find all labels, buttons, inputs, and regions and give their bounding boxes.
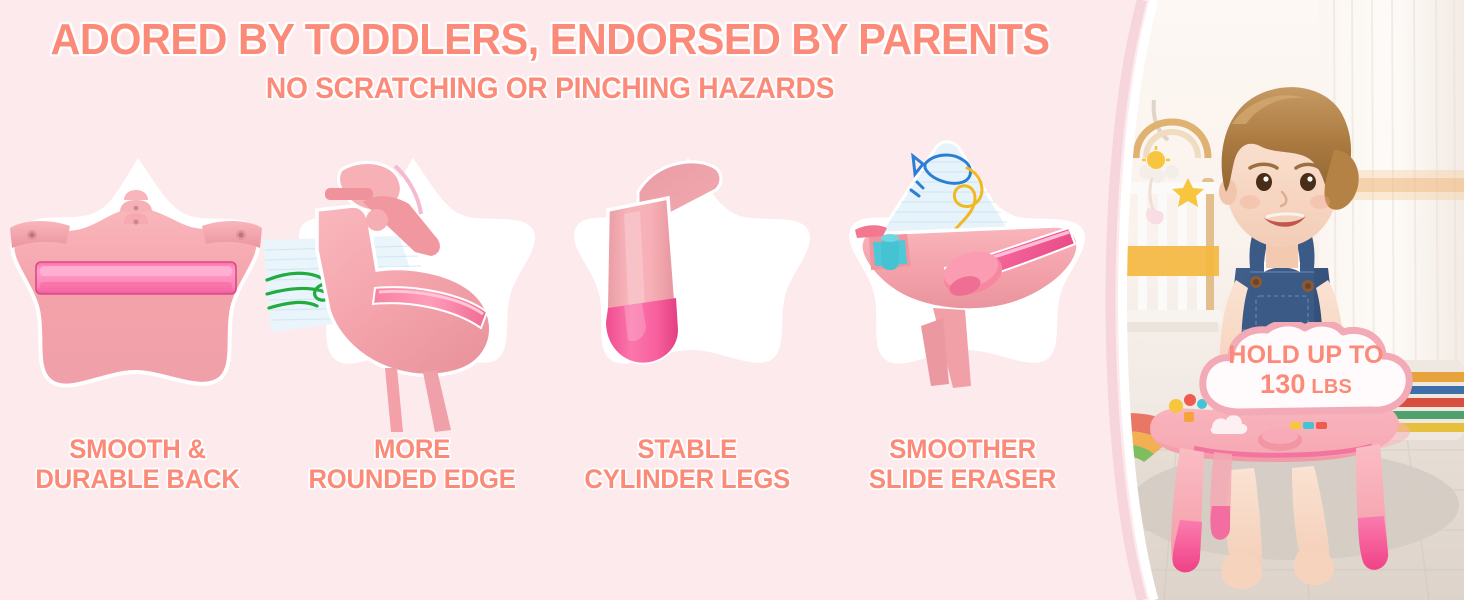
badge-line-1: HOLD UP TO bbox=[1228, 341, 1383, 369]
cylinder-leg-icon bbox=[550, 140, 825, 440]
star-chair-back-icon bbox=[0, 140, 275, 440]
page-subtitle: NO SCRATCHING OR PINCHING HAZARDS bbox=[33, 72, 1067, 105]
header-block: ADORED BY TODDLERS, ENDORSED BY PARENTS … bbox=[0, 16, 1100, 105]
rounded-edge-icon bbox=[275, 140, 550, 440]
feature-figure bbox=[0, 140, 275, 440]
product-feature-banner: ADORED BY TODDLERS, ENDORSED BY PARENTS … bbox=[0, 0, 1464, 600]
lifestyle-photo bbox=[1084, 0, 1464, 600]
feature-caption: SMOOTH & DURABLE BACK bbox=[35, 434, 239, 494]
feature-caption: SMOOTHER SLIDE ERASER bbox=[869, 434, 1056, 494]
feature-caption: MORE ROUNDED EDGE bbox=[309, 434, 516, 494]
badge-weight-unit: LBS bbox=[1306, 376, 1352, 398]
feature-item-smooth-durable-back: SMOOTH & DURABLE BACK bbox=[0, 140, 275, 520]
feature-figure bbox=[825, 140, 1100, 440]
feature-item-smoother-slide-eraser: SMOOTHER SLIDE ERASER bbox=[825, 140, 1100, 520]
feature-figure bbox=[550, 140, 825, 440]
slide-eraser-icon bbox=[825, 140, 1100, 440]
feature-caption: STABLE CYLINDER LEGS bbox=[585, 434, 791, 494]
feature-list: SMOOTH & DURABLE BACK bbox=[0, 140, 1100, 520]
feature-item-stable-cylinder-legs: STABLE CYLINDER LEGS bbox=[550, 140, 825, 520]
feature-item-more-rounded-edge: MORE ROUNDED EDGE bbox=[275, 140, 550, 520]
badge-weight-number: 130 bbox=[1260, 369, 1306, 399]
page-title: ADORED BY TODDLERS, ENDORSED BY PARENTS bbox=[33, 16, 1067, 64]
feature-figure bbox=[275, 140, 550, 440]
badge-line-2: 130 LBS bbox=[1260, 369, 1352, 402]
weight-capacity-badge: HOLD UP TO 130 LBS bbox=[1193, 322, 1419, 420]
badge-text: HOLD UP TO 130 LBS bbox=[1193, 322, 1419, 420]
